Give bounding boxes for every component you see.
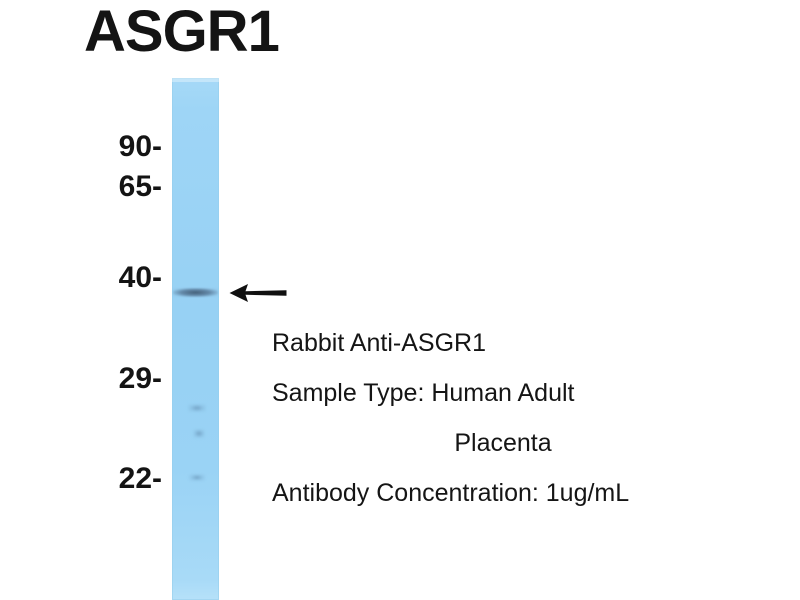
- mw-marker-22: 22-: [92, 462, 162, 496]
- faint-band: [188, 404, 206, 412]
- annotation-line-concentration: Antibody Concentration: 1ug/mL: [272, 468, 734, 518]
- blot-lane: [172, 78, 219, 600]
- annotation-line-antibody: Rabbit Anti-ASGR1: [272, 318, 734, 368]
- page-title: ASGR1: [84, 2, 279, 61]
- arrow-left-icon: [229, 281, 287, 305]
- annotation-line-sample-type: Sample Type: Human Adult: [272, 368, 734, 418]
- annotation-line-sample-tissue: Placenta: [272, 418, 734, 468]
- faint-band: [193, 429, 205, 438]
- mw-marker-29: 29-: [92, 362, 162, 396]
- faint-band: [189, 474, 205, 481]
- mw-marker-90: 90-: [92, 130, 162, 164]
- target-band: [173, 288, 218, 297]
- mw-marker-40: 40-: [92, 261, 162, 295]
- annotation-block: Rabbit Anti-ASGR1 Sample Type: Human Adu…: [272, 318, 734, 518]
- mw-marker-65: 65-: [92, 170, 162, 204]
